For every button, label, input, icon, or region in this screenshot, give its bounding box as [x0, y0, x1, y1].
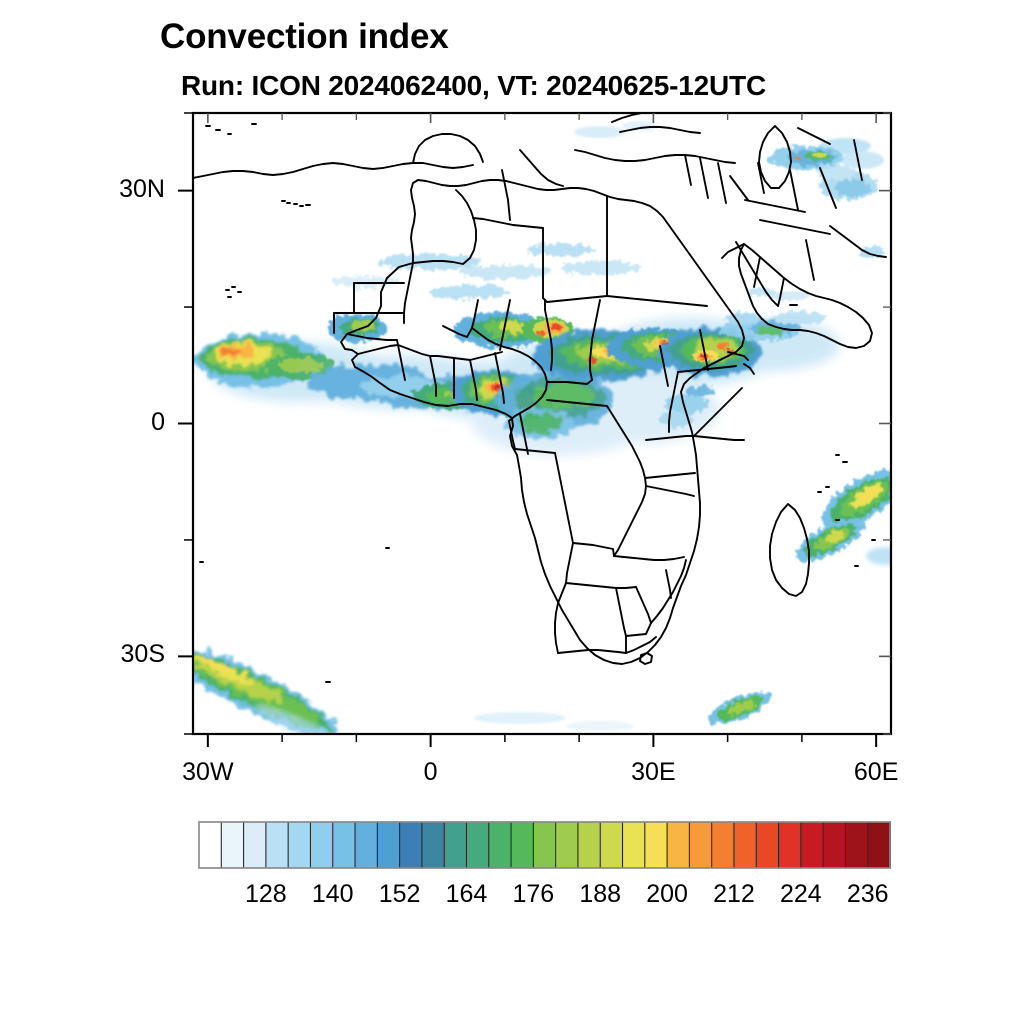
colorbar-cell[interactable]	[600, 822, 623, 868]
colorbar-cell[interactable]	[310, 822, 333, 868]
colorbar-cell[interactable]	[734, 822, 757, 868]
colorbar-cell[interactable]	[266, 822, 289, 868]
senegal-mali-cell	[327, 314, 387, 342]
run-info-subtitle: Run: ICON 2024062400, VT: 20240625-12UTC	[181, 70, 766, 102]
colorbar-cell[interactable]	[689, 822, 712, 868]
page-title: Convection index	[160, 17, 449, 57]
colorbar-tick-label: 224	[780, 880, 822, 909]
colorbar-cell[interactable]	[199, 822, 222, 868]
x-axis-label-30e: 30E	[631, 758, 675, 787]
x-axis-label-0: 0	[424, 758, 438, 787]
colorbar-cell[interactable]	[801, 822, 824, 868]
colorbar-cell[interactable]	[355, 822, 378, 868]
colorbar-cell[interactable]	[712, 822, 735, 868]
colorbar-cell[interactable]	[756, 822, 779, 868]
colorbar-cell[interactable]	[489, 822, 512, 868]
colorbar-cell[interactable]	[400, 822, 423, 868]
colorbar[interactable]	[199, 822, 890, 868]
colorbar-cell[interactable]	[556, 822, 579, 868]
colorbar-tick-label: 200	[646, 880, 688, 909]
colorbar-cell[interactable]	[511, 822, 534, 868]
colorbar-cell[interactable]	[623, 822, 646, 868]
colorbar-cell[interactable]	[377, 822, 400, 868]
colorbar-tick-label: 164	[446, 880, 488, 909]
colorbar-cell[interactable]	[578, 822, 601, 868]
colorbar-cell[interactable]	[779, 822, 802, 868]
x-axis-label-30w: 30W	[182, 758, 233, 787]
y-axis-label-30n: 30N	[119, 175, 165, 204]
colorbar-cell[interactable]	[244, 822, 267, 868]
x-axis-label-60e: 60E	[854, 758, 898, 787]
colorbar-cell[interactable]	[823, 822, 846, 868]
y-axis-label-0: 0	[151, 408, 165, 437]
colorbar-cell[interactable]	[667, 822, 690, 868]
colorbar-cell[interactable]	[422, 822, 445, 868]
colorbar-tick-label: 176	[512, 880, 554, 909]
figure-root: Convection index Run: ICON 2024062400, V…	[0, 0, 1024, 1024]
colorbar-tick-label: 128	[245, 880, 287, 909]
colorbar-cell[interactable]	[333, 822, 356, 868]
colorbar-tick-label: 188	[579, 880, 621, 909]
colorbar-tick-label: 236	[847, 880, 889, 909]
colorbar-cell[interactable]	[868, 822, 891, 868]
colorbar-cell[interactable]	[221, 822, 244, 868]
map-plot	[0, 0, 1024, 1024]
colorbar-cell[interactable]	[466, 822, 489, 868]
colorbar-cell[interactable]	[845, 822, 868, 868]
colorbar-cell[interactable]	[288, 822, 311, 868]
colorbar-tick-label: 212	[713, 880, 755, 909]
colorbar-tick-label: 152	[379, 880, 421, 909]
colorbar-cell[interactable]	[645, 822, 668, 868]
colorbar-tick-label: 140	[312, 880, 354, 909]
y-axis-label-30s: 30S	[121, 640, 165, 669]
colorbar-cell[interactable]	[533, 822, 556, 868]
colorbar-cell[interactable]	[444, 822, 467, 868]
